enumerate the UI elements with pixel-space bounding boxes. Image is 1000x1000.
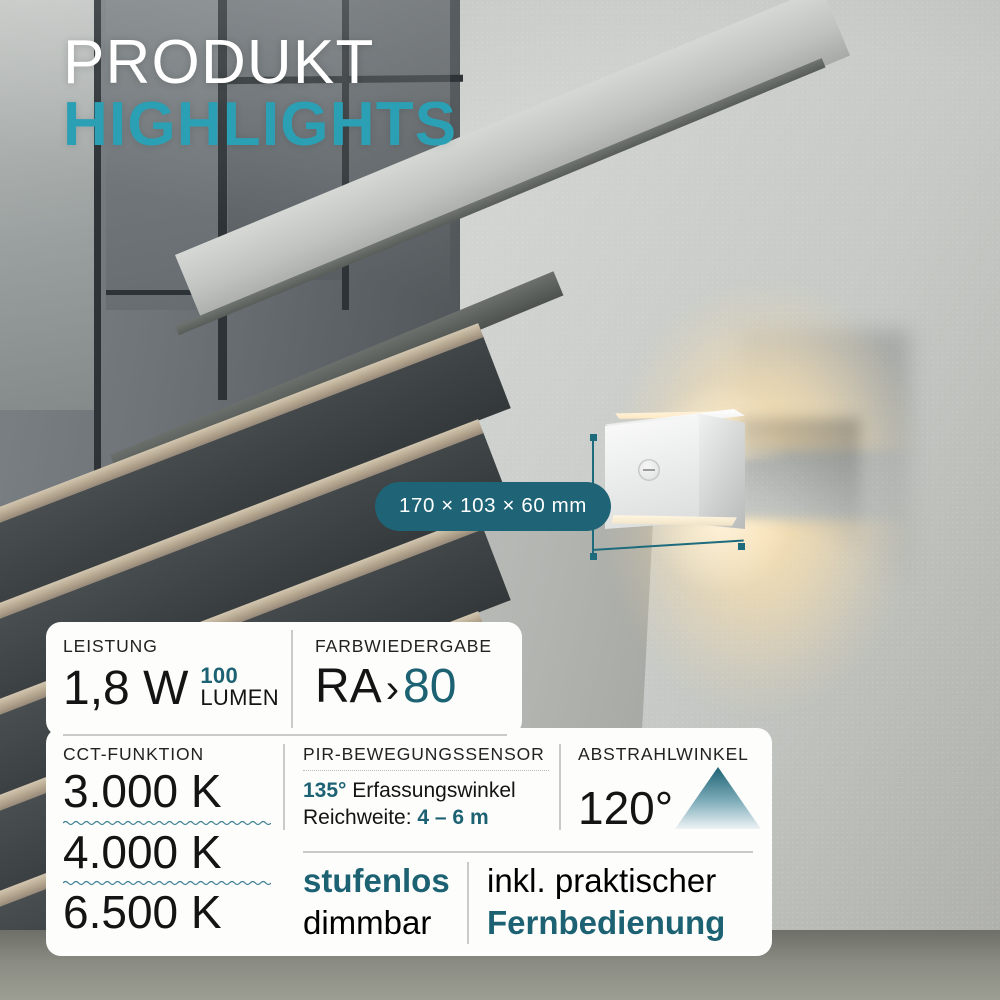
wave-divider-icon [63, 879, 271, 886]
spec-cri-operator: › [382, 667, 403, 711]
spec-pir-angle-value: 135° [303, 779, 346, 802]
dimension-endpoint-dot [738, 543, 745, 550]
spec-cct-value-2: 4.000 K [63, 828, 271, 878]
lamp-side-face [697, 411, 745, 529]
spec-pir-label: PIR-BEWEGUNGSSENSOR [303, 744, 551, 765]
card-divider-vertical [467, 862, 469, 944]
spec-cri-prefix: RA [315, 660, 382, 713]
spec-dimming-line-2: dimmbar [303, 902, 450, 944]
card-divider-vertical [283, 744, 285, 830]
page-title: PRODUKT HIGHLIGHTS [63, 34, 457, 155]
spec-color-rendering: FARBWIEDERGABE RA›80 [315, 636, 492, 714]
lamp-drop-shadow [740, 418, 860, 558]
spec-power-value: 1,8 W [63, 661, 188, 716]
dimension-badge: 170 × 103 × 60 mm [375, 482, 611, 531]
wall-lamp [605, 405, 755, 535]
spec-remote-line-1: inkl. praktischer [487, 860, 725, 902]
spec-lumen: 100 LUMEN [200, 665, 279, 709]
dotted-divider [303, 770, 549, 771]
product-highlight-graphic: PRODUKT HIGHLIGHTS 170 × 103 × 60 mm LEI… [0, 0, 1000, 1000]
card-divider-vertical [291, 630, 293, 728]
spec-remote-line-2: Fernbedienung [487, 902, 725, 944]
card-divider-horizontal [303, 851, 753, 853]
spec-beam-angle: ABSTRAHLWINKEL 120° [578, 744, 761, 831]
spec-beam-value: 120° [578, 785, 673, 831]
title-line-1: PRODUKT [63, 34, 457, 92]
lamp-button-icon [638, 459, 660, 481]
spec-power: LEISTUNG 1,8 W 100 LUMEN [63, 636, 279, 716]
spec-cct-label: CCT-FUNKTION [63, 744, 271, 765]
spec-cri-label: FARBWIEDERGABE [315, 636, 492, 657]
dimension-endpoint-dot [590, 434, 597, 441]
spec-cct-value-3: 6.500 K [63, 888, 271, 938]
spec-remote: inkl. praktischer Fernbedienung [487, 860, 725, 944]
wave-divider-icon [63, 819, 271, 826]
spec-pir: PIR-BEWEGUNGSSENSOR 135° Erfassungswinke… [303, 744, 551, 832]
spec-pir-angle-row: 135° Erfassungswinkel [303, 778, 551, 805]
title-line-2: HIGHLIGHTS [63, 96, 457, 154]
beam-cone-icon [675, 767, 761, 829]
spec-power-label: LEISTUNG [63, 636, 279, 657]
spec-cct: CCT-FUNKTION 3.000 K 4.000 K 6.500 K [63, 744, 271, 938]
spec-pir-range-label: Reichweite: [303, 806, 412, 829]
spec-dimming-line-1: stufenlos [303, 860, 450, 902]
dimension-endpoint-dot [590, 553, 597, 560]
spec-beam-label: ABSTRAHLWINKEL [578, 744, 761, 765]
spec-dimming: stufenlos dimmbar [303, 860, 450, 944]
spec-pir-angle-text: Erfassungswinkel [352, 779, 515, 802]
spec-cri-value: 80 [403, 660, 456, 713]
spec-lumen-unit: LUMEN [200, 685, 279, 710]
card-divider-vertical [559, 744, 561, 830]
spec-pir-range-value: 4 – 6 m [417, 806, 488, 829]
spec-pir-range-row: Reichweite: 4 – 6 m [303, 805, 551, 832]
card-divider-horizontal [63, 734, 507, 736]
spec-cct-value-1: 3.000 K [63, 767, 271, 817]
